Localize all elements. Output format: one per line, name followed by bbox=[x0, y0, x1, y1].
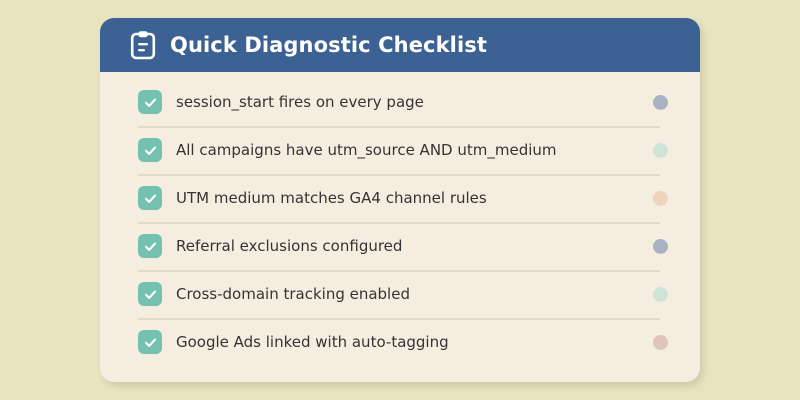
status-dot bbox=[653, 239, 668, 254]
status-dot bbox=[653, 143, 668, 158]
list-item-label: All campaigns have utm_source AND utm_me… bbox=[176, 141, 643, 159]
list-item-label: session_start fires on every page bbox=[176, 93, 643, 111]
checkbox-checked-icon[interactable] bbox=[138, 138, 162, 162]
screen: Quick Diagnostic Checklist session_start… bbox=[0, 0, 800, 400]
list-item-label: Cross-domain tracking enabled bbox=[176, 285, 643, 303]
page-title: Quick Diagnostic Checklist bbox=[170, 33, 487, 57]
status-dot bbox=[653, 95, 668, 110]
checkbox-checked-icon[interactable] bbox=[138, 234, 162, 258]
list-item[interactable]: session_start fires on every page bbox=[100, 78, 700, 126]
list-item[interactable]: Referral exclusions configured bbox=[100, 222, 700, 270]
clipboard-icon bbox=[130, 30, 156, 60]
card-header: Quick Diagnostic Checklist bbox=[100, 18, 700, 72]
checkbox-checked-icon[interactable] bbox=[138, 186, 162, 210]
list-item-label: Referral exclusions configured bbox=[176, 237, 643, 255]
checkbox-checked-icon[interactable] bbox=[138, 282, 162, 306]
status-dot bbox=[653, 335, 668, 350]
list-item-label: UTM medium matches GA4 channel rules bbox=[176, 189, 643, 207]
status-dot bbox=[653, 287, 668, 302]
list-item[interactable]: Cross-domain tracking enabled bbox=[100, 270, 700, 318]
diagnostic-checklist-card: Quick Diagnostic Checklist session_start… bbox=[100, 18, 700, 382]
list-item[interactable]: Google Ads linked with auto-tagging bbox=[100, 318, 700, 366]
list-item-label: Google Ads linked with auto-tagging bbox=[176, 333, 643, 351]
list-item[interactable]: All campaigns have utm_source AND utm_me… bbox=[100, 126, 700, 174]
checklist: session_start fires on every page All ca… bbox=[100, 72, 700, 382]
list-item[interactable]: UTM medium matches GA4 channel rules bbox=[100, 174, 700, 222]
checkbox-checked-icon[interactable] bbox=[138, 90, 162, 114]
status-dot bbox=[653, 191, 668, 206]
checkbox-checked-icon[interactable] bbox=[138, 330, 162, 354]
